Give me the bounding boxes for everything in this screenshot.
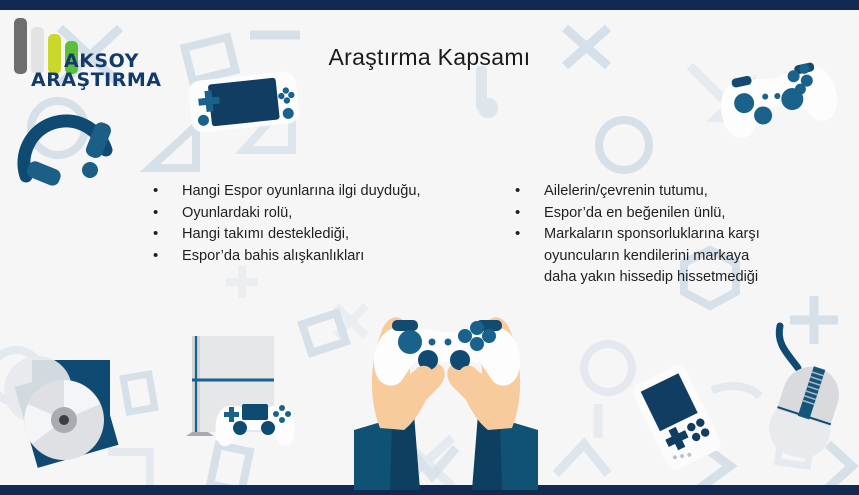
headset-icon (8, 104, 124, 196)
list-item: Markaların sponsorluklarına karşı oyuncu… (512, 224, 782, 289)
logo-text-line2: ARAŞTIRMA (31, 69, 162, 91)
list-item: Hangi takımı desteklediği, (150, 224, 480, 246)
list-item: Hangi Espor oyunlarına ilgi duyduğu, (150, 181, 480, 203)
top-accent-bar (0, 0, 859, 10)
computer-mouse-icon (758, 314, 854, 466)
list-item: Oyunlardaki rolü, (150, 203, 480, 225)
game-console-icon (178, 330, 310, 455)
handheld-console-icon (184, 68, 304, 140)
gameboy-handheld-icon (628, 366, 728, 470)
list-item: Espor’da bahis alışkanlıkları (150, 246, 480, 268)
right-bullet-list: Ailelerin/çevrenin tutumu, Espor’da en b… (512, 181, 782, 289)
gamepad-icon (714, 56, 842, 142)
slide-canvas: AKSOY ARAŞTIRMA Araştırma Kapsamı Hangi … (0, 0, 859, 495)
left-bullet-list: Hangi Espor oyunlarına ilgi duyduğu, Oyu… (150, 181, 480, 267)
left-bullet-column: Hangi Espor oyunlarına ilgi duyduğu, Oyu… (150, 181, 480, 267)
right-bullet-column: Ailelerin/çevrenin tutumu, Espor’da en b… (512, 181, 782, 289)
list-item: Espor’da en beğenilen ünlü, (512, 203, 782, 225)
list-item: Ailelerin/çevrenin tutumu, (512, 181, 782, 203)
hands-holding-gamepad-icon (334, 302, 560, 492)
cd-case-icon (8, 352, 132, 482)
